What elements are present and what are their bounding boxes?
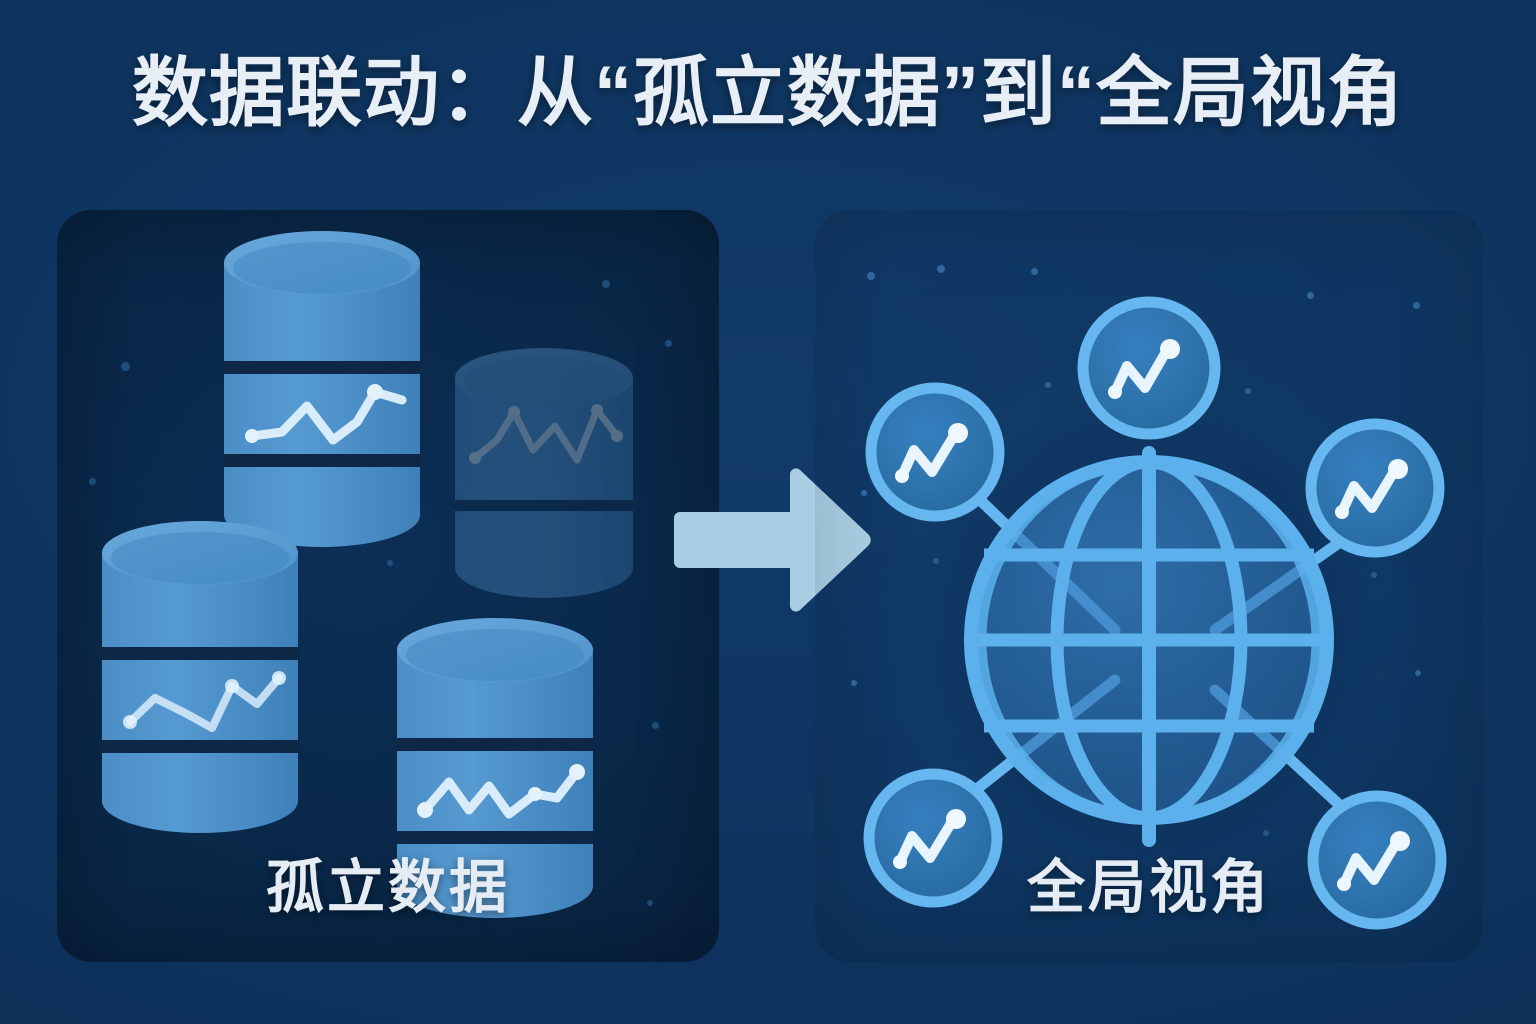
database-icon-3 [102, 521, 298, 833]
right-panel-label: 全局视角 [815, 840, 1483, 924]
database-icon-2 [455, 348, 633, 598]
left-panel-isolated-data: 孤立数据 [57, 210, 719, 962]
database-icon-1 [224, 231, 420, 547]
infographic-canvas: 数据联动：从“孤立数据”到“全局视角 [0, 0, 1536, 1024]
right-panel-global-view: 全局视角 [815, 210, 1483, 962]
chart-node-upper-right[interactable] [1311, 424, 1439, 552]
chart-node-top[interactable] [1083, 302, 1215, 434]
left-panel-label: 孤立数据 [57, 840, 719, 924]
chart-node-upper-left[interactable] [871, 388, 999, 516]
page-title: 数据联动：从“孤立数据”到“全局视角 [0, 56, 1536, 132]
